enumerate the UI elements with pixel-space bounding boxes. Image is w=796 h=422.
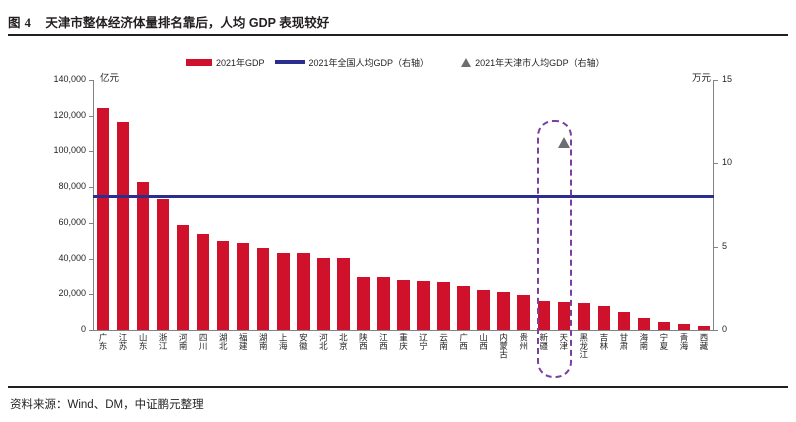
x-axis-label-海南: 海南 [639,333,648,350]
x-axis-label-陕西: 陕西 [358,333,367,350]
bar-湖北 [217,241,229,330]
bar-浙江 [157,199,169,330]
x-axis-label-辽宁: 辽宁 [419,333,428,350]
right-axis-tick-label: 15 [722,74,746,84]
left-axis-tick-label: 140,000 [30,74,86,84]
x-axis-label-北京: 北京 [338,333,347,350]
x-axis-label-四川: 四川 [198,333,207,350]
x-axis-label-福建: 福建 [238,333,247,350]
x-axis-label-广东: 广东 [98,333,107,350]
x-axis-label-湖北: 湖北 [218,333,227,350]
x-axis-label-青海: 青海 [679,333,688,350]
x-axis-label-新疆: 新疆 [539,333,548,350]
left-axis-tick-mark [89,330,93,331]
x-axis-label-重庆: 重庆 [399,333,408,350]
chart-plot-area: 亿元 万元 140,000120,000100,00080,00060,0004… [0,0,796,422]
bar-河南 [177,225,189,330]
x-axis-line [93,330,714,331]
right-axis-tick-mark [714,247,718,248]
x-axis-label-黑龙江: 黑龙江 [579,333,588,359]
x-axis-label-河南: 河南 [178,333,187,350]
x-axis-label-云南: 云南 [439,333,448,350]
bar-江西 [377,277,389,330]
bar-重庆 [397,280,409,330]
left-axis-tick-label: 60,000 [30,217,86,227]
x-axis-label-山东: 山东 [138,333,147,350]
right-axis-tick-mark [714,330,718,331]
bar-山西 [477,290,489,330]
x-axis-labels: 广东江苏山东浙江河南四川湖北福建湖南上海安徽河北北京陕西江西重庆辽宁云南广西山西… [93,333,714,385]
x-axis-label-广西: 广西 [459,333,468,350]
x-axis-label-江西: 江西 [378,333,387,350]
figure-container: 图 4 天津市整体经济体量排名靠后，人均 GDP 表现较好 资料来源：Wind、… [0,0,796,422]
right-axis-tick-label: 10 [722,157,746,167]
bar-贵州 [517,295,529,330]
bar-吉林 [598,306,610,330]
bar-宁夏 [658,322,670,330]
left-axis-tick-label: 80,000 [30,181,86,191]
bar-云南 [437,282,449,330]
x-axis-label-湖南: 湖南 [258,333,267,350]
bar-上海 [277,253,289,330]
bar-海南 [638,318,650,330]
x-axis-label-贵州: 贵州 [519,333,528,350]
x-axis-label-吉林: 吉林 [599,333,608,350]
x-axis-label-安徽: 安徽 [298,333,307,350]
x-axis-label-浙江: 浙江 [158,333,167,350]
bar-山东 [137,182,149,330]
bar-四川 [197,234,209,330]
x-axis-label-宁夏: 宁夏 [659,333,668,350]
bar-福建 [237,243,249,330]
left-axis-tick-label: 40,000 [30,253,86,263]
right-axis-tick-label: 5 [722,241,746,251]
bar-西藏 [698,326,710,330]
left-axis-tick-label: 0 [30,324,86,334]
bar-江苏 [117,122,129,330]
bar-辽宁 [417,281,429,330]
bar-甘肃 [618,312,630,330]
bar-广东 [97,108,109,330]
bar-黑龙江 [578,303,590,330]
right-axis-tick-mark [714,80,718,81]
left-axis-tick-label: 100,000 [30,145,86,155]
bar-安徽 [297,253,309,330]
bar-series [93,80,714,330]
bar-青海 [678,324,690,330]
x-axis-label-山西: 山西 [479,333,488,350]
right-axis-tick-label: 0 [722,324,746,334]
x-axis-label-甘肃: 甘肃 [619,333,628,350]
bar-湖南 [257,248,269,330]
bar-河北 [317,258,329,330]
bar-陕西 [357,277,369,330]
national-percapita-line [93,195,714,198]
bar-北京 [337,258,349,330]
x-axis-label-江苏: 江苏 [118,333,127,350]
x-axis-label-西藏: 西藏 [699,333,708,350]
x-axis-label-河北: 河北 [318,333,327,350]
right-axis-tick-mark [714,163,718,164]
left-axis-tick-label: 120,000 [30,110,86,120]
bar-内蒙古 [497,292,509,330]
x-axis-label-天津: 天津 [559,333,568,350]
x-axis-label-内蒙古: 内蒙古 [499,333,508,359]
left-axis-tick-label: 20,000 [30,288,86,298]
x-axis-label-上海: 上海 [278,333,287,350]
bar-广西 [457,286,469,330]
